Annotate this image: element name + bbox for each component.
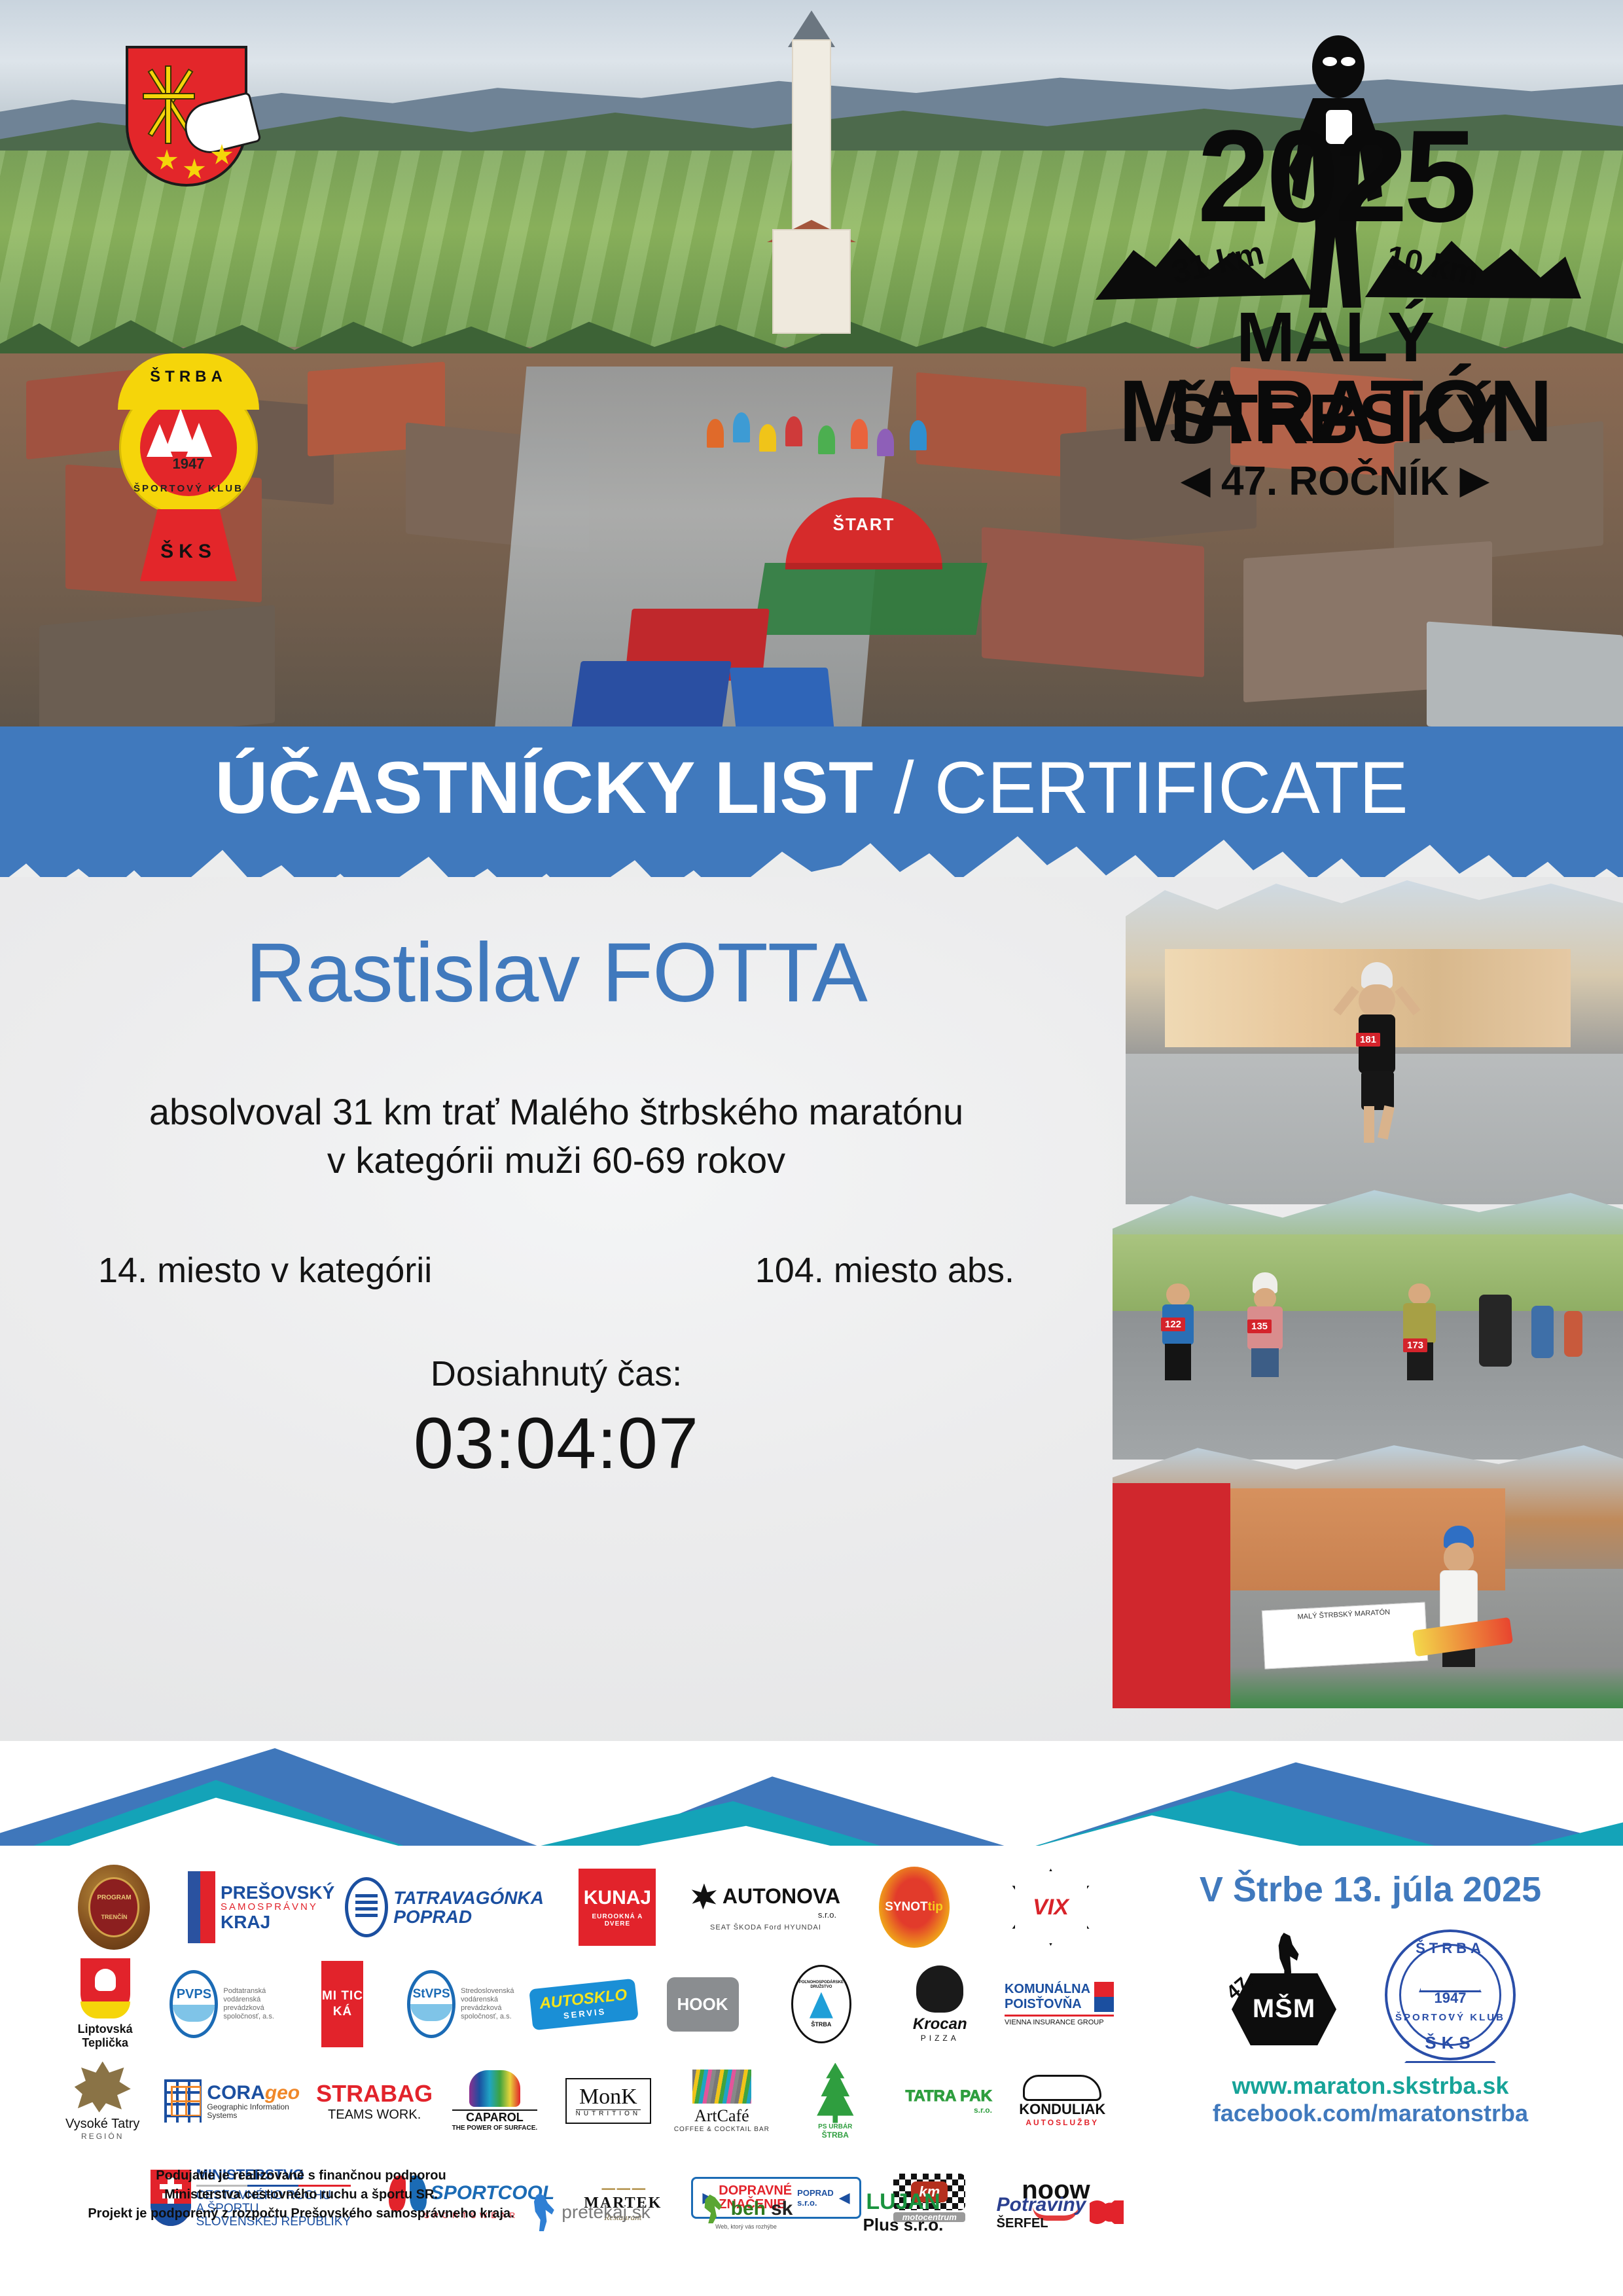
sponsor-sub: s.r.o. (691, 1910, 840, 1920)
msm-logo: MŠM 47. (1225, 1933, 1343, 2057)
sponsor-sub: AUTOSLUŽBY (1019, 2118, 1105, 2127)
sponsor-sub: ŠERFEL (997, 2216, 1086, 2231)
website-url[interactable]: www.maraton.skstrba.sk (1141, 2072, 1599, 2100)
sponsor-sub: KRAJ (221, 1912, 334, 1931)
strba-coat-of-arms: ŠTRBA (118, 46, 255, 223)
sponsor-name: Potraviny (997, 2194, 1086, 2216)
spectator (785, 416, 802, 446)
turkey-icon (916, 1965, 963, 2013)
sponsor-hook[interactable]: HOOK (643, 1958, 762, 2050)
region-mark (188, 1871, 215, 1943)
bib-number: 122 (1161, 1318, 1185, 1331)
sponsor-sub: THE POWER OF SURFACE. (452, 2125, 538, 2132)
spectator (851, 419, 868, 449)
spectator (877, 429, 894, 456)
sponsor-sub: COFFEE & COCKTAIL BAR (674, 2126, 770, 2133)
banner-title-en: CERTIFICATE (935, 747, 1408, 829)
runner-figure (1564, 1311, 1582, 1357)
roof (39, 605, 275, 733)
church-body (772, 229, 851, 334)
shorts (1361, 1071, 1394, 1110)
starburst-icon (691, 1884, 717, 1910)
sponsor-ps-urbar-strba[interactable]: PS URBÁR ŠTRBA (779, 2055, 892, 2147)
absolute-placement: 104. miesto abs. (755, 1250, 1014, 1291)
spectator (759, 424, 776, 452)
red-inflatable-arch (1113, 1483, 1230, 1708)
blue-tent (571, 661, 731, 733)
distance-row: 31 km 10 km (1073, 223, 1597, 301)
banner-title-sk: ÚČASTNÍCKY LIST (215, 747, 873, 829)
crest-shield (80, 1958, 130, 2018)
certificate-description: absolvoval 31 km trať Malého štrbského m… (0, 1088, 1113, 1185)
club-base: ŠKS (140, 509, 237, 581)
grid-icon (164, 2079, 202, 2123)
sponsor-sub: Stredoslovenská vodárenská prevádzková s… (461, 1987, 519, 2022)
participant-name: Rastislav FOTTA (0, 929, 1113, 1017)
sponsor-corageo[interactable]: CORAgeo Geographic Information Systems (159, 2055, 311, 2147)
sponsor-beh-sk[interactable]: behsk Web, ktorý vás rozhýbe (668, 2166, 825, 2258)
sks-club-logo: 1947 ŠPORTOVÝ KLUB ŠTRBA ŠKS (110, 340, 267, 602)
bib-number: 135 (1247, 1319, 1272, 1333)
sponsor-name: PROGRAM (97, 1894, 131, 1902)
runner-figure (1420, 1526, 1499, 1689)
sponsor-konduliak[interactable]: KONDULIAK AUTOSLUŽBY (1006, 2055, 1119, 2147)
time-label: Dosiahnutý čas: (0, 1354, 1113, 1394)
mountain-peak (147, 424, 173, 457)
kp-block: KOMUNÁLNA POISŤOVŇA VIENNA INSURANCE GRO… (1005, 1982, 1114, 2026)
sponsor-accent: tip (928, 1900, 943, 1914)
banner-title: ÚČASTNÍCKY LIST / CERTIFICATE (0, 751, 1623, 825)
finish-carpet (753, 563, 987, 635)
top (1403, 1303, 1436, 1344)
club-founded-year: 1947 (110, 456, 267, 473)
sponsor-sub: ŠTRBA (814, 2130, 856, 2140)
sponsor-miticka[interactable]: MI TIC KÁ (283, 1958, 402, 2050)
support-note-line-2: Ministerstva cestovného ruchu a športu S… (79, 2185, 524, 2204)
finish-banner: MALÝ ŠTRBSKÝ MARATÓN (1262, 1602, 1428, 1670)
sks-footer-logo: ŠTRBA 1947 ŠPORTOVÝ KLUB ŠKS (1385, 1929, 1516, 2060)
sponsor-komunalna-poistovna[interactable]: KOMUNÁLNA POISŤOVŇA VIENNA INSURANCE GRO… (999, 1958, 1119, 2050)
kunaj-box: KUNAJ EUROOKNÁ A DVERE (579, 1869, 656, 1946)
runner-figure: 173 (1394, 1283, 1444, 1382)
sponsor-name: ArtCafé (674, 2106, 770, 2126)
head (1166, 1283, 1190, 1306)
leg (1364, 1106, 1374, 1143)
white-singlet (1440, 1570, 1478, 1630)
sponsor-name: STRABAG (316, 2080, 433, 2108)
runner-figure (1479, 1295, 1512, 1367)
sponsor-row: PROGRAM TRENČÍN PREŠOVSKÝ SAMOSPRÁVNY KR… (46, 1859, 1119, 1956)
sponsor-mid: SAMOSPRÁVNY (221, 1902, 334, 1912)
sponsor-sub: POPRAD (393, 1907, 544, 1926)
sponsor-name: POĽNOHOSPODÁRSKE DRUŽSTVO (797, 1981, 846, 1989)
banner-title-separator: / (873, 747, 934, 829)
tatra-mark (345, 1877, 388, 1937)
artcafe-mark (692, 2070, 751, 2104)
sponsor-sub: s.r.o. (906, 2106, 992, 2115)
sponsor-name: SYNOT (885, 1900, 927, 1914)
sponsor-name: MonK (576, 2085, 641, 2109)
church (772, 39, 851, 327)
leg (1378, 1105, 1395, 1139)
cross-horizontal (143, 93, 195, 99)
sponsor-presovsky-kraj[interactable]: PREŠOVSKÝ SAMOSPRÁVNY KRAJ (183, 1861, 340, 1953)
church-tower (792, 39, 831, 236)
sponsor-accent: sk (771, 2198, 793, 2220)
sponsor-name: CORA (207, 2082, 264, 2104)
sponsor-name: Vysoké Tatry (65, 2117, 139, 2132)
description-line-1: absolvoval 31 km trať Malého štrbského m… (0, 1088, 1113, 1136)
autosklo-badge: AUTOSKLO SERVIS (529, 1978, 639, 2030)
water-drop-icon (810, 1992, 833, 2018)
sponsor-artcafe[interactable]: ArtCafé COFFEE & COCKTAIL BAR (665, 2055, 778, 2147)
description-line-2: v kategórii muži 60-69 rokov (0, 1136, 1113, 1185)
runner-figure: 135 (1237, 1272, 1293, 1377)
support-note-line-1: Podujatie je realizované s finančnou pod… (79, 2166, 524, 2185)
bib-number: 181 (1356, 1033, 1380, 1047)
sponsor-pretekaj-sk[interactable]: pretekaj.sk (510, 2166, 668, 2258)
certificate-content: Rastislav FOTTA absolvoval 31 km trať Ma… (0, 929, 1113, 1485)
club-arc-text: ŠPORTOVÝ KLUB (110, 483, 267, 494)
sponsor-lujan-plus[interactable]: LUJAN Plus s.r.o. (825, 2166, 982, 2258)
roof (1427, 622, 1623, 733)
sponsor-name: Liptovská (78, 2022, 133, 2036)
sponsor-sub: Web, ktorý vás rozhýbe (700, 2223, 793, 2230)
sponsor-name: KUNAJ (584, 1887, 651, 1909)
sponsor-name: PS URBÁR (814, 2123, 856, 2130)
runner-figure: 122 (1152, 1283, 1204, 1382)
sponsor-sub: REGIÓN (65, 2132, 139, 2141)
msm-abbrev: MŠM (1232, 1994, 1336, 2024)
sponsor-sub: VIENNA INSURANCE GROUP (1005, 2015, 1114, 2026)
tree-icon (814, 2063, 856, 2123)
edelweiss-icon (75, 2062, 131, 2113)
sponsor-vysoke-tatry[interactable]: Vysoké Tatry REGIÓN (46, 2055, 159, 2147)
arrow-left-icon: ◀ (1182, 459, 1210, 500)
runner-icon (527, 2193, 556, 2231)
sponsor-sub: NUTRITION (576, 2109, 641, 2117)
sponsor-name: TATRAVAGÓNKA (393, 1888, 544, 1907)
sponsor-tatravagonka[interactable]: TATRAVAGÓNKA POPRAD (340, 1861, 549, 1953)
sponsor-caparol[interactable]: CAPAROL THE POWER OF SURFACE. (438, 2055, 551, 2147)
pvps-oval: PVPS (169, 1970, 218, 2038)
bib-number: 173 (1403, 1338, 1427, 1352)
sponsor-name: AUTONOVA (722, 1884, 840, 1909)
sponsor-accent: geo (265, 2082, 300, 2104)
sponsor-kunaj[interactable]: KUNAJ EUROOKNÁ A DVERE (549, 1861, 686, 1953)
shorts (1251, 1348, 1279, 1377)
category-placement: 14. miesto v kategórii (98, 1250, 432, 1291)
sponsor-sub: Podtatranská vodárenská prevádzková spol… (223, 1987, 277, 2022)
spectator (707, 419, 724, 448)
arrow-right-icon: ▶ (1460, 459, 1488, 500)
certificate-banner: ÚČASTNÍCKY LIST / CERTIFICATE (0, 726, 1623, 877)
sponsor-brands: SEAT ŠKODA Ford HYUNDAI (691, 1924, 840, 1931)
sponsor-name: StVPS (413, 1987, 450, 2001)
sponsor-synottip[interactable]: SYNOTtip (846, 1861, 982, 1953)
support-note: Podujatie je realizované s finančnou pod… (79, 2166, 524, 2223)
head (1444, 1543, 1474, 1573)
sponsor-name: VIX (1033, 1895, 1069, 1920)
club-logos: MŠM 47. ŠTRBA 1947 ŠPORTOVÝ KLUB ŠKS (1141, 1929, 1599, 2060)
sponsor-name: PVPS (177, 1987, 211, 2002)
sponsor-mid: POISŤOVŇA (1005, 1997, 1090, 2012)
sponsor-strabag[interactable]: STRABAG TEAMS WORK. (311, 2055, 438, 2147)
runner-figure: 181 (1342, 962, 1414, 1145)
sponsor-liptovska-teplicka[interactable]: Liptovská Teplička (46, 1958, 164, 2050)
sponsor-sub: PIZZA (913, 2034, 967, 2043)
spectator (910, 420, 927, 450)
sponsor-tatrapak[interactable]: TATRA PAK s.r.o. (892, 2055, 1005, 2147)
stvps-oval: StVPS (407, 1970, 455, 2038)
edition-text: 47. ROČNÍK (1221, 459, 1449, 504)
start-arch-label: ŠTART (785, 514, 942, 535)
event-date: V Štrbe 13. júla 2025 (1141, 1869, 1599, 1910)
photo-female-finisher: 181 (1126, 877, 1623, 1204)
sponsor-name: PREŠOVSKÝ (221, 1883, 334, 1902)
sponsor-name: KOMUNÁLNA (1005, 1982, 1090, 1997)
dots-icon (1090, 2200, 1124, 2224)
blue-tent (730, 668, 835, 733)
sponsor-monk-nutrition[interactable]: MonK NUTRITION (552, 2055, 665, 2147)
sponsor-name: pretekaj.sk (562, 2202, 650, 2223)
sponsor-row: Vysoké Tatry REGIÓN CORAgeo Geographic I… (46, 2053, 1119, 2149)
sponsor-pd-strba[interactable]: POĽNOHOSPODÁRSKE DRUŽSTVO ŠTRBA (762, 1958, 880, 2050)
sponsor-row-bottom: pretekaj.sk behsk Web, ktorý vás rozhýbe… (510, 2166, 1139, 2258)
sponsor-name: MI TIC KÁ (321, 1961, 363, 2047)
krocan-block: Krocan PIZZA (913, 1965, 967, 2043)
sks-bottom-text: ŠKS (1385, 2033, 1516, 2053)
cross-vertical (165, 65, 171, 144)
marathon-emblem: 2025 31 km 10 km MALÝ ŠTRBSKÝ MARATÓN ◀ … (1073, 26, 1597, 602)
hero-photo: ŠTART ŠTRBA 1947 ŠPORTOVÝ KLUB ŠTRBA (0, 0, 1623, 733)
sks-top-text: ŠTRBA (1385, 1940, 1516, 1957)
emblem-title-line2: MARATÓN (1073, 361, 1597, 461)
club-top-ribbon: ŠTRBA (118, 353, 259, 410)
legs (1165, 1344, 1191, 1380)
sponsor-name: beh (731, 2198, 766, 2220)
pd-strba-oval: POĽNOHOSPODÁRSKE DRUŽSTVO ŠTRBA (791, 1965, 851, 2043)
sponsor-name: LUJAN (863, 2189, 944, 2215)
sponsor-sub: Geographic Information Systems (207, 2103, 306, 2119)
facebook-url[interactable]: facebook.com/maratonstrba (1141, 2100, 1599, 2127)
kp-mark (1094, 1982, 1114, 2012)
vix-star: VIX (1012, 1869, 1090, 1946)
monk-block: MonK NUTRITION (565, 2078, 651, 2124)
sponsor-sub: TRENČÍN (101, 1914, 127, 1921)
sponsor-name: CAPAROL (452, 2109, 538, 2125)
footer-right-column: V Štrbe 13. júla 2025 MŠM 47. ŠTRBA 1947… (1141, 1852, 1599, 2127)
autonova-block: AUTONOVA s.r.o. SEAT ŠKODA Ford HYUNDAI (691, 1884, 840, 1931)
elephant-icon (469, 2070, 520, 2107)
placement-row: 14. miesto v kategórii 104. miesto abs. (0, 1250, 1113, 1291)
photo-finish-tape: MALÝ ŠTRBSKÝ MARATÓN (1113, 1440, 1623, 1708)
club-bottom-text: ŠKS (140, 541, 237, 563)
sponsor-name: HOOK (677, 1994, 728, 2014)
sponsor-vix[interactable]: VIX (982, 1861, 1119, 1953)
photo-runners-on-road: 122 135 173 (1113, 1185, 1623, 1460)
sponsor-autonova[interactable]: AUTONOVA s.r.o. SEAT ŠKODA Ford HYUNDAI (686, 1861, 846, 1953)
support-note-line-3: Projekt je podporený z rozpočtu Prešovsk… (79, 2204, 524, 2223)
car-icon (1023, 2075, 1101, 2101)
seal-badge: PROGRAM TRENČÍN (78, 1865, 150, 1950)
sponsor-name: KONDULIAK (1019, 2101, 1105, 2118)
hook-box: HOOK (667, 1977, 739, 2032)
sponsor-potraviny-serfel[interactable]: Potraviny ŠERFEL (982, 2166, 1139, 2258)
synottip-oval: SYNOTtip (879, 1867, 950, 1948)
sponsor-pvps[interactable]: PVPS Podtatranská vodárenská prevádzková… (164, 1958, 283, 2050)
sponsor-name: TATRA PAK (906, 2087, 992, 2106)
sponsor-row: Liptovská Teplička PVPS Podtatranská vod… (46, 1956, 1119, 2053)
runner-icon (700, 2195, 726, 2223)
emblem-edition: ◀ 47. ROČNÍK ▶ (1073, 458, 1597, 505)
footer: PROGRAM TRENČÍN PREŠOVSKÝ SAMOSPRÁVNY KR… (0, 1846, 1623, 2296)
sponsor-program-trencin[interactable]: PROGRAM TRENČÍN (46, 1861, 183, 1953)
sponsor-sub: TEAMS WORK. (316, 2108, 433, 2123)
sponsor-sub: ŠTRBA (811, 2021, 831, 2028)
time-value: 03:04:07 (0, 1402, 1113, 1485)
head (1408, 1283, 1431, 1304)
club-top-text: ŠTRBA (118, 368, 259, 386)
sponsor-sub: Plus s.r.o. (863, 2215, 944, 2235)
website-links: www.maraton.skstrba.sk facebook.com/mara… (1141, 2072, 1599, 2127)
mountain-peak (186, 423, 212, 457)
sponsor-krocan-pizza[interactable]: Krocan PIZZA (881, 1958, 999, 2050)
sponsor-name: Krocan (913, 2015, 967, 2034)
head (1359, 984, 1395, 1017)
spectator (818, 425, 835, 454)
spectator (733, 412, 750, 442)
sponsor-stvps[interactable]: StVPS Stredoslovenská vodárenská prevádz… (402, 1958, 524, 2050)
sks-year: 1947 (1385, 1990, 1516, 2007)
sponsor-sub: Teplička (78, 2036, 133, 2050)
sponsor-autosklo-servis[interactable]: AUTOSKLO SERVIS (524, 1958, 643, 2050)
runner-figure (1531, 1306, 1554, 1358)
sponsor-sub: EUROOKNÁ A DVERE (579, 1913, 656, 1928)
photo-collage: 181 122 135 173 MALÝ (1113, 877, 1623, 1708)
